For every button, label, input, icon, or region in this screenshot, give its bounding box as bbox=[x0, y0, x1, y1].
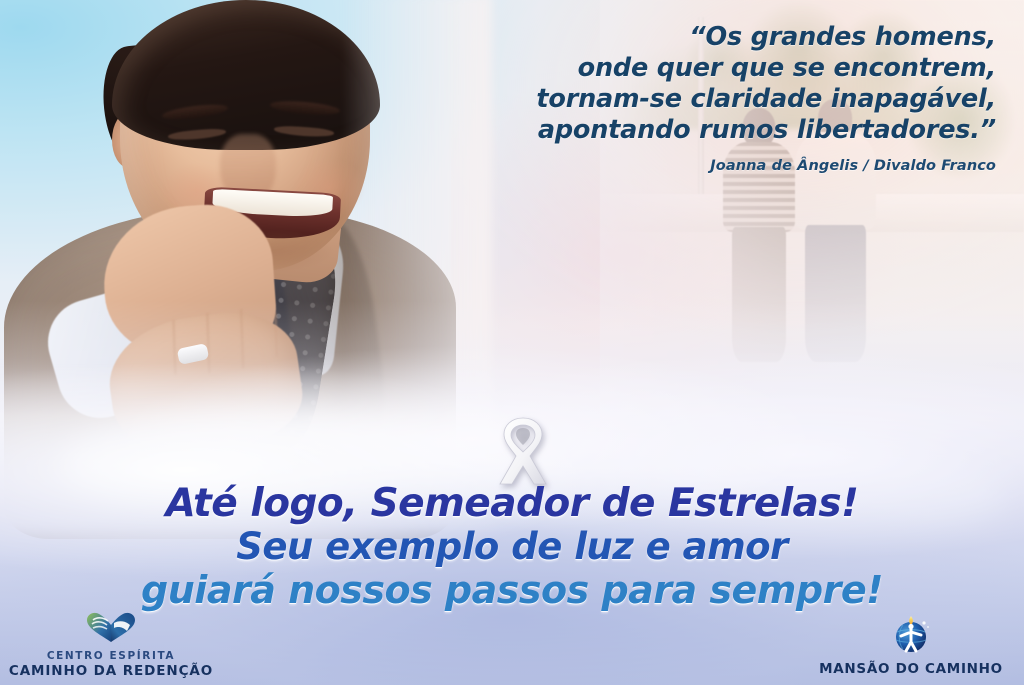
logo-centro-espirita-caminho-da-redencao[interactable]: CENTRO ESPÍRITA CAMINHO DA REDENÇÃO bbox=[8, 611, 214, 679]
headline-line-3: guiará nossos passos para sempre! bbox=[0, 568, 1024, 612]
quote-block: “Os grandes homens, onde quer que se enc… bbox=[436, 22, 996, 174]
globe-figure-flame-icon bbox=[808, 612, 1014, 658]
white-ribbon-icon bbox=[486, 412, 560, 490]
headline-line-2: Seu exemplo de luz e amor bbox=[0, 526, 1024, 568]
portrait-hair bbox=[112, 0, 380, 150]
quote-line-2: onde quer que se encontrem, bbox=[436, 53, 996, 84]
heart-hands-icon bbox=[8, 611, 214, 647]
logo-right-line-2: MANSÃO DO CAMINHO bbox=[808, 661, 1014, 677]
quote-attribution: Joanna de Ângelis / Divaldo Franco bbox=[436, 158, 996, 174]
quote-line-3: tornam-se claridade inapagável, bbox=[436, 84, 996, 115]
memorial-poster: “Os grandes homens, onde quer que se enc… bbox=[0, 0, 1024, 685]
quote-line-1: “Os grandes homens, bbox=[436, 22, 996, 53]
portrait-divaldo-franco bbox=[0, 0, 462, 524]
headline-block: Até logo, Semeador de Estrelas! Seu exem… bbox=[0, 482, 1024, 612]
logo-left-line-1: CENTRO ESPÍRITA bbox=[8, 650, 214, 663]
logo-mansao-do-caminho[interactable]: MANSÃO DO CAMINHO bbox=[808, 612, 1014, 677]
headline-line-1: Até logo, Semeador de Estrelas! bbox=[0, 482, 1024, 526]
logo-left-line-2: CAMINHO DA REDENÇÃO bbox=[8, 663, 214, 679]
quote-line-4: apontando rumos libertadores.” bbox=[436, 115, 996, 146]
